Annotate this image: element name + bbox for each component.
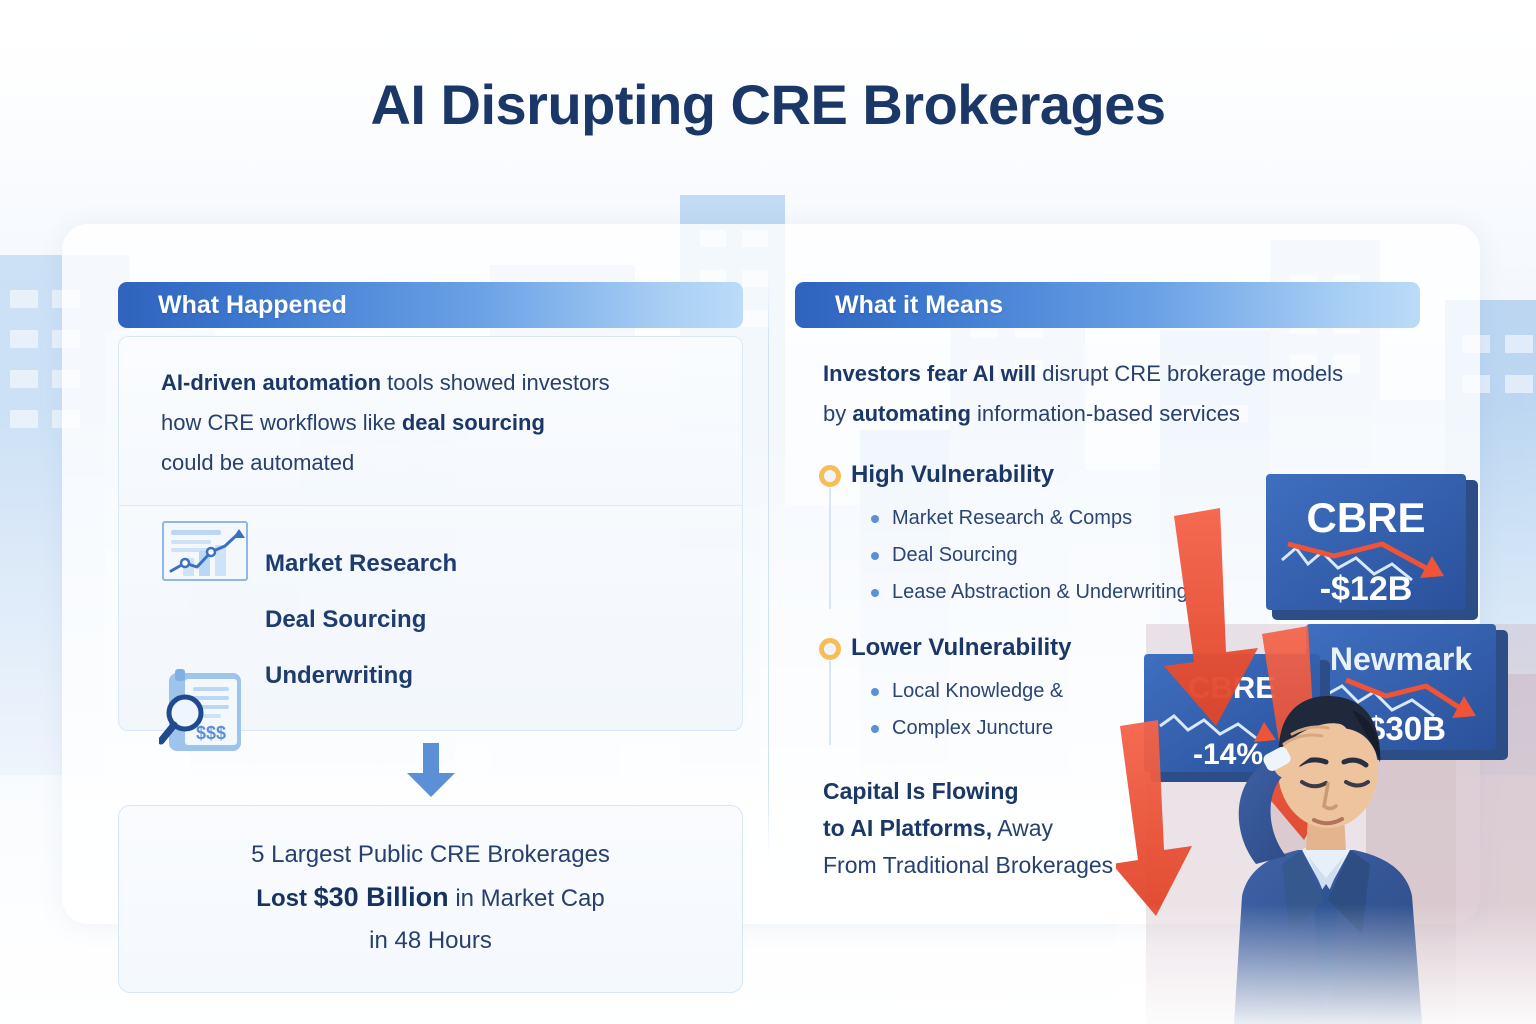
left-workflow-box: $$$ Market Research Deal Sourcing Underw… <box>118 505 743 731</box>
left-intro-line-2-bold: deal sourcing <box>402 410 545 435</box>
column-divider <box>768 276 769 856</box>
bullet-ring-icon <box>819 638 841 660</box>
list-item: Complex Juncture <box>851 710 1420 747</box>
vulnerability-group-high: High Vulnerability Market Research & Com… <box>795 460 1420 611</box>
right-intro-line-2-post: information-based services <box>971 401 1240 426</box>
market-research-chart-icon <box>159 516 251 666</box>
list-item-label: Local Knowledge & <box>892 673 1063 710</box>
vulnerability-group-title: Lower Vulnerability <box>851 633 1420 663</box>
capital-line-3: From Traditional Brokerages <box>823 847 1420 884</box>
left-panel-header-label: What Happened <box>158 291 347 320</box>
loss-line-3: in 48 Hours <box>149 920 712 962</box>
right-intro-line-1-bold: Investors fear AI will <box>823 361 1036 386</box>
loss-line-1: 5 Largest Public CRE Brokerages <box>149 834 712 876</box>
loss-line-2-pre: Lost <box>256 885 313 912</box>
left-intro-line-3: could be automated <box>161 443 700 483</box>
group-connector-line <box>829 488 831 609</box>
left-intro-line-1: AI-driven automation tools showed invest… <box>161 363 700 403</box>
group-connector-line <box>829 661 831 745</box>
left-panel-header: What Happened <box>118 282 743 328</box>
bullet-dot-icon <box>871 589 879 597</box>
left-intro-line-1-rest: tools showed investors <box>381 370 610 395</box>
left-intro-line-2-pre: how CRE workflows like <box>161 410 402 435</box>
right-intro-line-2-bold: automating <box>852 401 971 426</box>
bullet-dot-icon <box>871 552 879 560</box>
list-item-label: Complex Juncture <box>892 710 1053 747</box>
list-item: Deal Sourcing <box>851 537 1420 574</box>
list-item: Local Knowledge & <box>851 673 1420 710</box>
right-panel-header-label: What it Means <box>835 291 1003 320</box>
capital-line-2: to AI Platforms, Away <box>823 810 1420 847</box>
list-item: Market Research <box>265 536 700 592</box>
loss-callout-box: 5 Largest Public CRE Brokerages Lost $30… <box>118 805 743 993</box>
vulnerability-group-title: High Vulnerability <box>851 460 1420 490</box>
capital-line-2-bold: to AI Platforms, <box>823 815 992 841</box>
loss-amount: $30 Billion <box>314 882 449 912</box>
workflow-list: Market Research Deal Sourcing Underwriti… <box>265 524 700 704</box>
loss-line-2-post: in Market Cap <box>449 885 605 912</box>
right-column: What it Means Investors fear AI will dis… <box>795 282 1420 884</box>
capital-line-1: Capital Is Flowing <box>823 773 1420 810</box>
bullet-dot-icon <box>871 515 879 523</box>
loss-line-2: Lost $30 Billion in Market Cap <box>149 876 712 920</box>
workflow-icon-stack: $$$ <box>159 516 251 760</box>
capital-flow-text: Capital Is Flowing to AI Platforms, Away… <box>795 773 1420 884</box>
left-intro-line-1-bold: AI-driven automation <box>161 370 381 395</box>
capital-line-1-bold: Capital Is Flowing <box>823 778 1019 804</box>
bullet-dot-icon <box>871 688 879 696</box>
svg-text:$$$: $$$ <box>196 723 226 743</box>
capital-line-2-rest: Away <box>992 815 1053 841</box>
magnifier-document-icon: $$$ <box>159 665 251 755</box>
right-intro-line-1-rest: disrupt CRE brokerage models <box>1036 361 1343 386</box>
list-item: Market Research & Comps <box>851 500 1420 537</box>
right-intro-line-2: by automating information-based services <box>823 394 1420 434</box>
right-intro-text: Investors fear AI will disrupt CRE broke… <box>795 350 1420 434</box>
left-intro-line-2: how CRE workflows like deal sourcing <box>161 403 700 443</box>
right-panel-header: What it Means <box>795 282 1420 328</box>
left-column: What Happened AI-driven automation tools… <box>118 282 743 993</box>
list-item: Lease Abstraction & Underwriting <box>851 574 1420 611</box>
list-item-label: Market Research & Comps <box>892 500 1132 537</box>
bullet-ring-icon <box>819 465 841 487</box>
list-item-label: Lease Abstraction & Underwriting <box>892 574 1188 611</box>
right-intro-line-2-pre: by <box>823 401 852 426</box>
right-intro-line-1: Investors fear AI will disrupt CRE broke… <box>823 354 1420 394</box>
list-item: Deal Sourcing <box>265 592 700 648</box>
infographic-canvas: AI Disrupting CRE Brokerages What Happen… <box>0 0 1536 1024</box>
left-intro-box: AI-driven automation tools showed invest… <box>118 336 743 505</box>
list-item: Underwriting <box>265 648 700 704</box>
list-item-label: Deal Sourcing <box>892 537 1018 574</box>
page-title: AI Disrupting CRE Brokerages <box>0 72 1536 137</box>
bullet-dot-icon <box>871 725 879 733</box>
vulnerability-group-lower: Lower Vulnerability Local Knowledge & Co… <box>795 633 1420 747</box>
